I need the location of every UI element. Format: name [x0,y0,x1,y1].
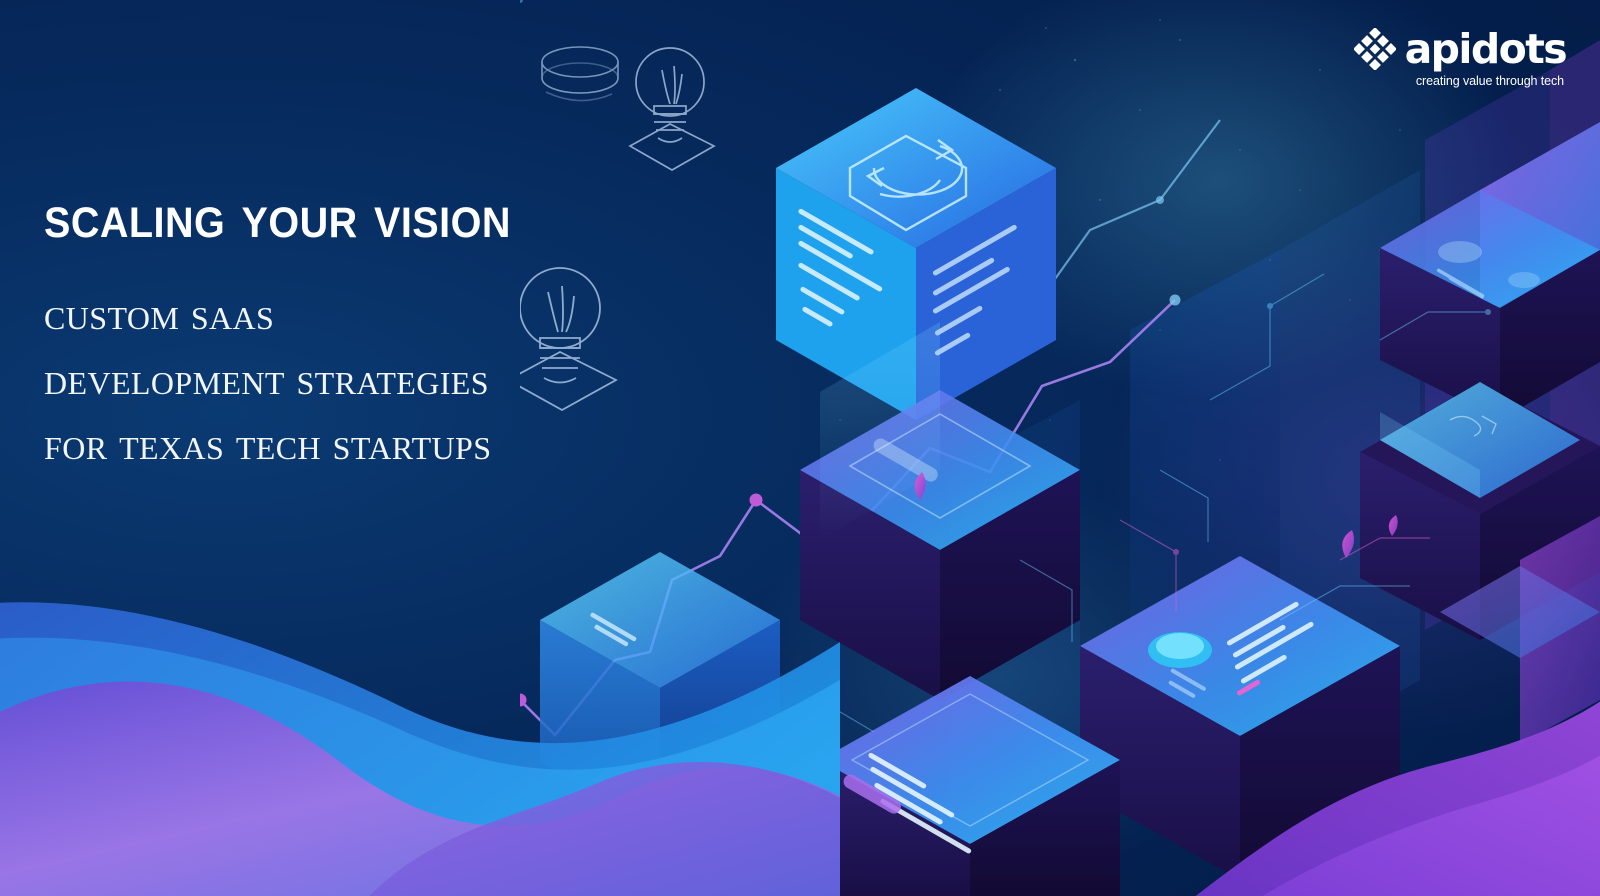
cube-center-purple [800,322,1080,700]
lightbulb-icon [630,48,714,170]
logo-row: apidots [1354,28,1566,70]
wave-shape-left [0,546,840,896]
poster-canvas: Scaling Your Vision Custom SaaS Developm… [0,0,1600,896]
page-title: Scaling Your Vision [44,186,688,248]
page-subtitle: Custom SaaS Development Strategies for T… [44,282,744,476]
logo-wordmark: apidots [1405,29,1566,70]
apidots-diamond-mark-icon [1354,28,1396,70]
logo-tagline: creating value through tech [1416,74,1564,88]
subtitle-line-2: Development Strategies [44,347,744,412]
brand-logo[interactable]: apidots creating value through tech [1354,28,1566,88]
coin-stack-icon [542,47,618,101]
wave-shape-right [1170,616,1600,896]
subtitle-line-1: Custom SaaS [44,282,744,347]
subtitle-line-3: for Texas Tech Startups [44,412,744,477]
hero-text-block: Scaling Your Vision Custom SaaS Developm… [44,186,744,476]
